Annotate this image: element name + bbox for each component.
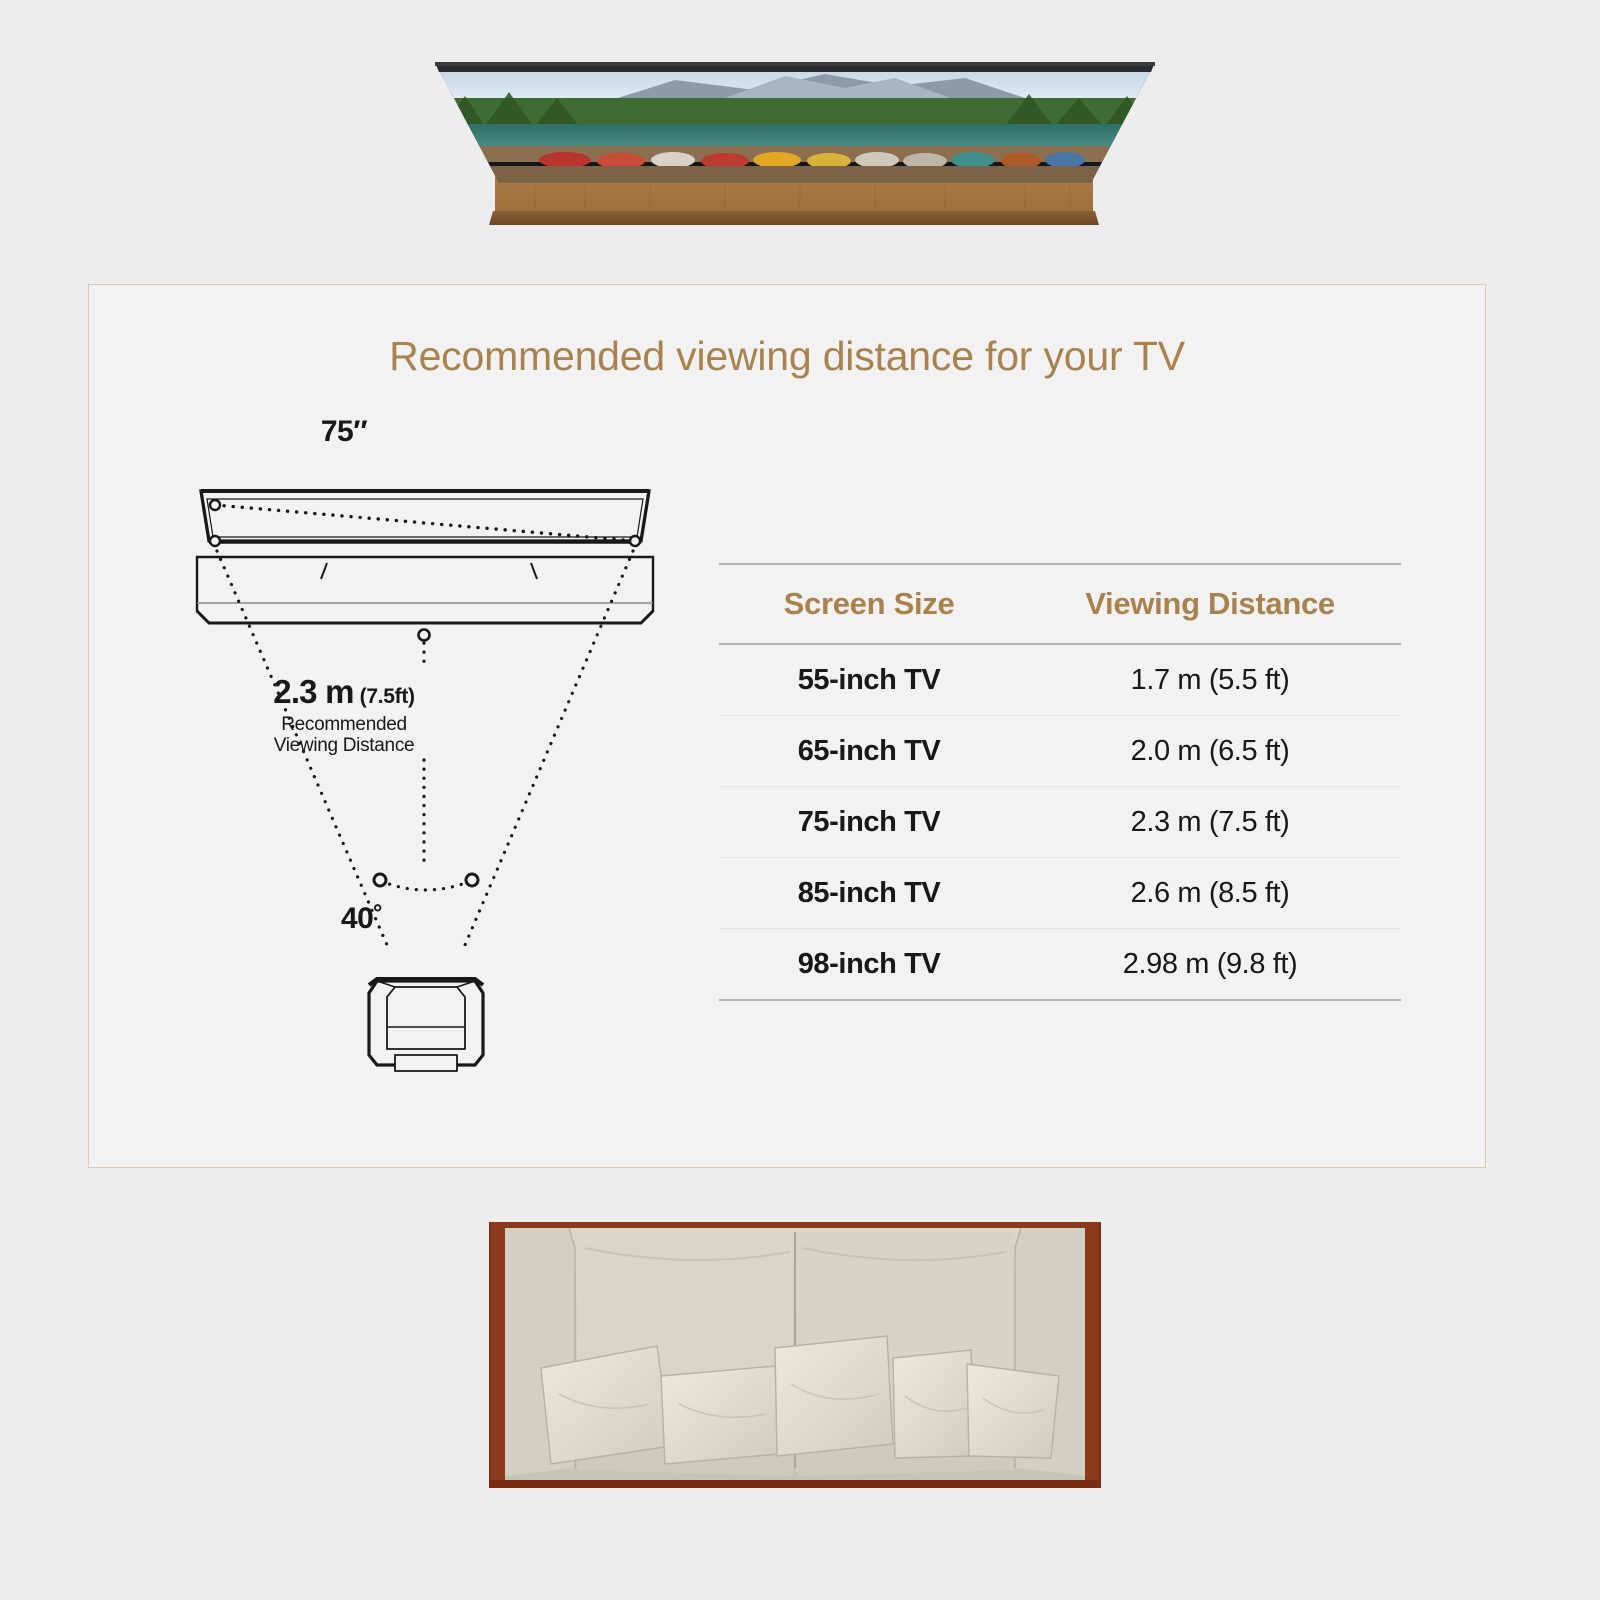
screen-size-label: 75″ (84, 415, 604, 449)
table-row: 65-inch TV 2.0 m (6.5 ft) (719, 716, 1401, 787)
distance-alt-unit: (7.5ft) (360, 685, 415, 709)
table-header: Screen Size Viewing Distance (719, 564, 1401, 644)
cell-viewing-distance: 2.0 m (6.5 ft) (1019, 716, 1401, 787)
tv-photo-illustration (425, 28, 1165, 233)
cell-viewing-distance: 2.3 m (7.5 ft) (1019, 787, 1401, 858)
column-header-viewing-distance: Viewing Distance (1019, 564, 1401, 644)
cell-screen-size: 75-inch TV (719, 787, 1019, 858)
cell-viewing-distance: 2.98 m (9.8 ft) (1019, 929, 1401, 1001)
table-row: 75-inch TV 2.3 m (7.5 ft) (719, 787, 1401, 858)
tv-photo (425, 28, 1165, 233)
distance-caption-line2: Viewing Distance (179, 735, 509, 756)
viewing-distance-table: Screen Size Viewing Distance 55-inch TV … (719, 563, 1401, 1001)
cell-viewing-distance: 1.7 m (5.5 ft) (1019, 644, 1401, 716)
cell-screen-size: 85-inch TV (719, 858, 1019, 929)
viewing-distance-diagram: 75″ (179, 415, 699, 1135)
cell-viewing-distance: 2.6 m (8.5 ft) (1019, 858, 1401, 929)
recommended-distance-callout: 2.3 m(7.5ft) Recommended Viewing Distanc… (179, 673, 509, 757)
table-body: 55-inch TV 1.7 m (5.5 ft) 65-inch TV 2.0… (719, 644, 1401, 1000)
table-row: 55-inch TV 1.7 m (5.5 ft) (719, 644, 1401, 716)
column-header-screen-size: Screen Size (719, 564, 1019, 644)
table-row: 98-inch TV 2.98 m (9.8 ft) (719, 929, 1401, 1001)
cell-screen-size: 65-inch TV (719, 716, 1019, 787)
distance-caption-line1: Recommended (179, 714, 509, 735)
diagram-schematic (179, 415, 699, 1135)
viewing-angle-label: 40˚ (341, 902, 383, 936)
distance-caption: Recommended Viewing Distance (179, 714, 509, 757)
table-header-row: Screen Size Viewing Distance (719, 564, 1401, 644)
sofa-photo (489, 1218, 1101, 1488)
sofa-photo-illustration (489, 1218, 1101, 1488)
cell-screen-size: 55-inch TV (719, 644, 1019, 716)
table-row: 85-inch TV 2.6 m (8.5 ft) (719, 858, 1401, 929)
distance-value: 2.3 m (273, 673, 353, 711)
page-title: Recommended viewing distance for your TV (89, 333, 1485, 380)
cell-screen-size: 98-inch TV (719, 929, 1019, 1001)
viewing-distance-panel: Recommended viewing distance for your TV… (88, 284, 1486, 1168)
